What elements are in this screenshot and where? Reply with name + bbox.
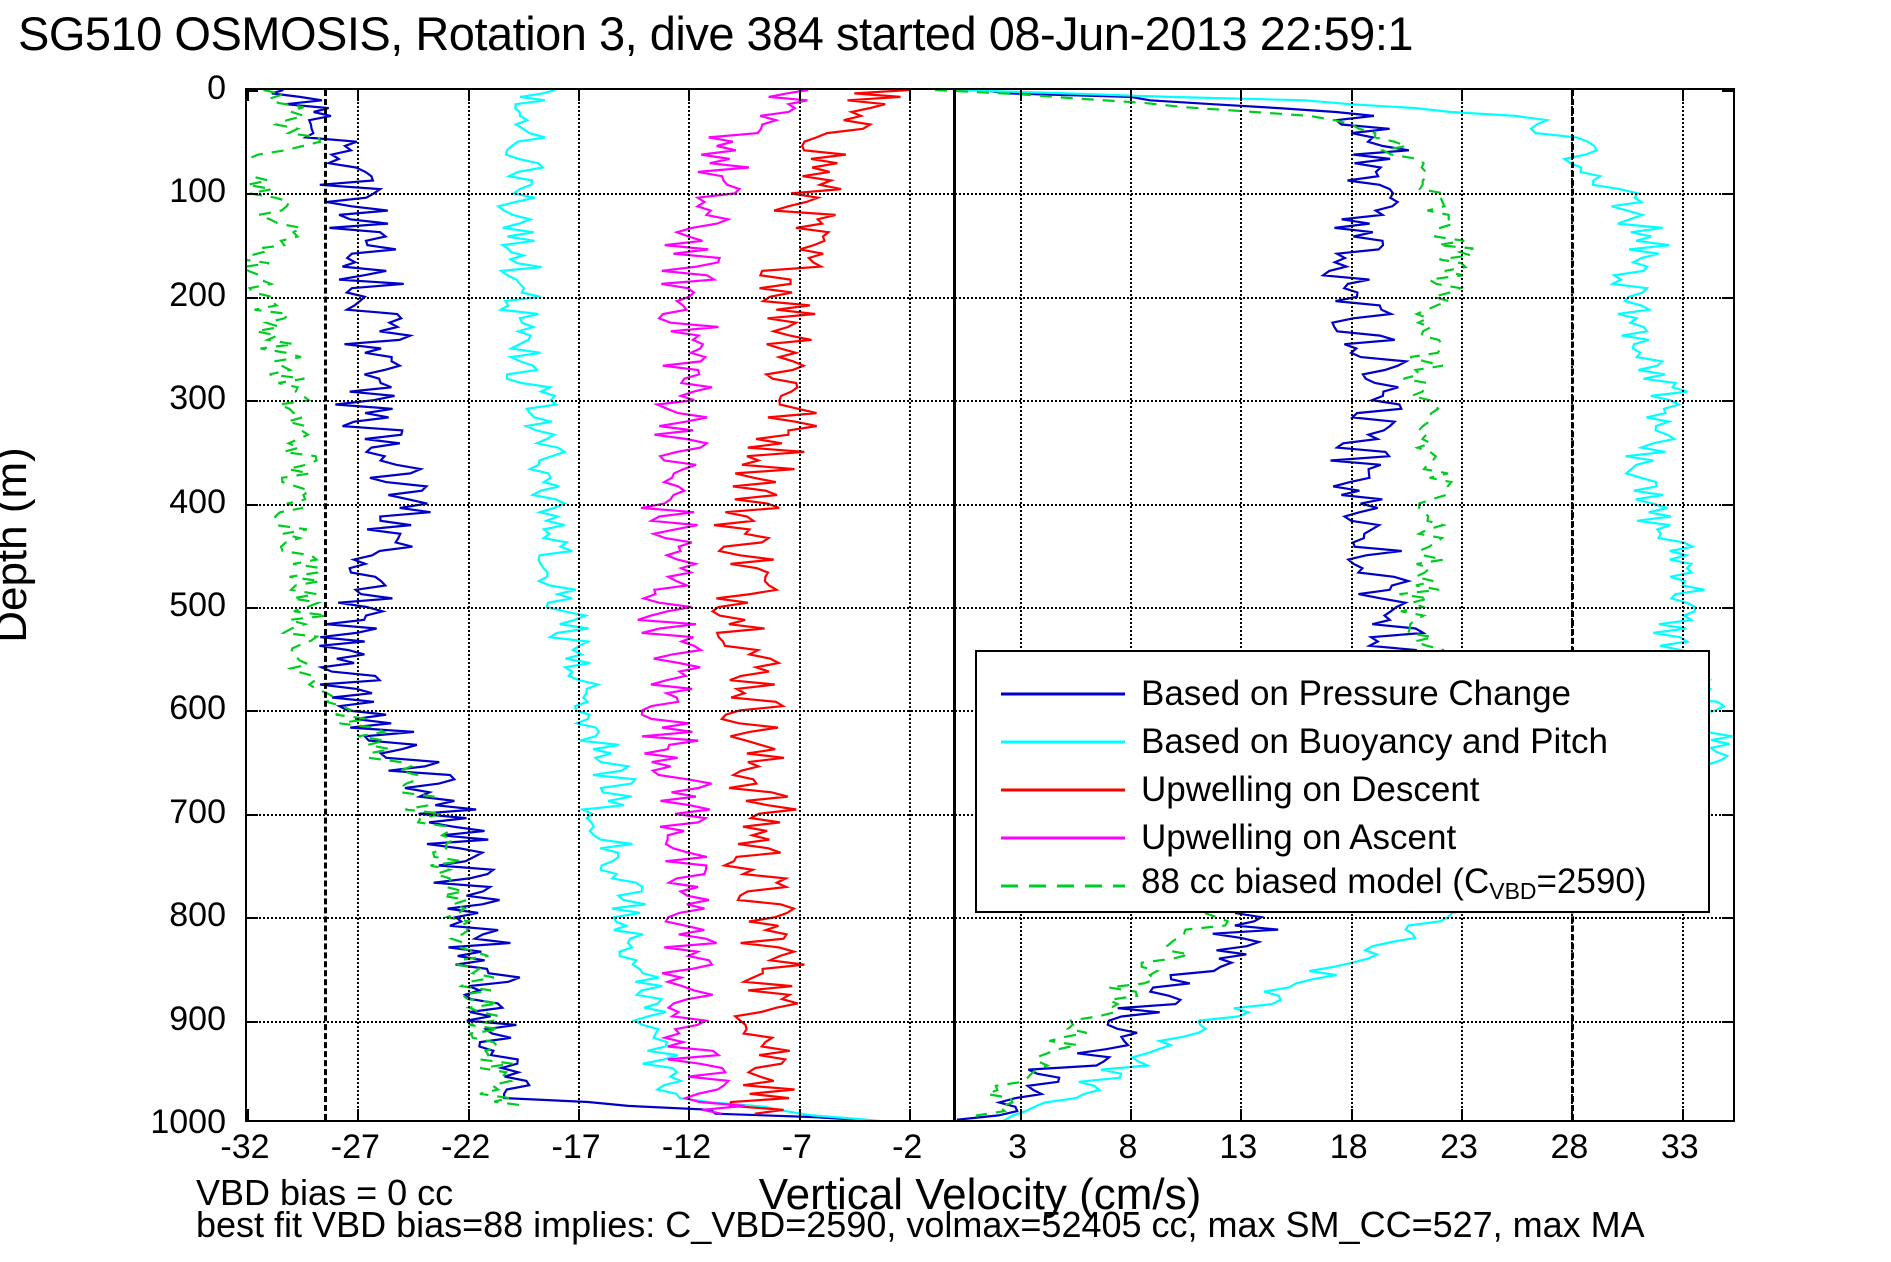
y-axis-tick	[1722, 607, 1733, 609]
y-axis-tick	[1722, 504, 1733, 506]
plot-clip	[247, 90, 1733, 1120]
x-tick-label: -2	[847, 1128, 967, 1166]
legend-label: Based on Pressure Change	[1141, 675, 1571, 713]
reference-line-dashed	[1571, 90, 1574, 1120]
x-axis-tick	[799, 90, 801, 101]
legend-item[interactable]: 88 cc biased model (CVBD=2590)	[977, 862, 1708, 910]
gridline-vertical	[799, 90, 801, 1120]
legend-box: Based on Pressure Change Based on Buoyan…	[975, 650, 1710, 913]
x-axis-tick	[1130, 1109, 1132, 1120]
x-axis-tick	[578, 90, 580, 101]
series-line-upwelling-on-ascent	[638, 90, 808, 1114]
gridline-vertical	[468, 90, 470, 1120]
x-axis-tick	[468, 1109, 470, 1120]
legend-swatch-descent	[999, 784, 1127, 796]
x-axis-tick	[1682, 1109, 1684, 1120]
x-axis-tick	[688, 1109, 690, 1120]
x-axis-tick	[1020, 1109, 1022, 1120]
reference-line-solid	[953, 90, 956, 1120]
data-series-canvas	[247, 90, 1733, 1120]
legend-item[interactable]: Based on Pressure Change	[977, 670, 1708, 718]
x-axis-tick	[468, 90, 470, 101]
series-line-upwelling-on-descent	[713, 90, 910, 1114]
y-axis-tick	[247, 297, 258, 299]
legend-label-model-subscript: VBD	[1489, 878, 1536, 904]
gridline-horizontal	[247, 917, 1733, 919]
y-tick-label: 1000	[0, 1103, 226, 1141]
y-axis-title: Depth (m)	[0, 265, 37, 825]
y-axis-tick	[1722, 90, 1733, 92]
y-axis-tick	[247, 710, 258, 712]
x-tick-label: -22	[406, 1128, 526, 1166]
plot-area	[245, 88, 1735, 1122]
x-tick-label: 3	[958, 1128, 1078, 1166]
gridline-vertical	[578, 90, 580, 1120]
gridline-horizontal	[247, 297, 1733, 299]
legend-swatch-pressure	[999, 688, 1127, 700]
x-axis-tick	[247, 1109, 249, 1120]
gridline-horizontal	[247, 504, 1733, 506]
x-axis-tick	[909, 90, 911, 101]
y-axis-tick	[247, 400, 258, 402]
x-axis-tick	[1461, 1109, 1463, 1120]
y-axis-tick	[247, 193, 258, 195]
y-tick-label: 0	[0, 69, 226, 107]
legend-label: Upwelling on Ascent	[1141, 819, 1456, 857]
x-tick-label: -7	[737, 1128, 857, 1166]
legend-item[interactable]: Upwelling on Descent	[977, 766, 1708, 814]
x-tick-label: -12	[626, 1128, 746, 1166]
y-axis-tick	[247, 814, 258, 816]
gridline-vertical	[1351, 90, 1353, 1120]
y-tick-label: 900	[0, 1000, 226, 1038]
gridline-horizontal	[247, 193, 1733, 195]
legend-swatch-model	[999, 880, 1127, 892]
footer-annotation: best fit VBD bias=88 implies: C_VBD=2590…	[196, 1204, 1645, 1246]
gridline-vertical	[1020, 90, 1022, 1120]
x-axis-tick	[1461, 90, 1463, 101]
x-axis-tick	[688, 90, 690, 101]
y-axis-tick	[247, 607, 258, 609]
gridline-horizontal	[247, 607, 1733, 609]
y-axis-tick	[1722, 400, 1733, 402]
legend-label-model: 88 cc biased model (CVBD=2590)	[1141, 863, 1647, 910]
series-line-based-on-pressure-change-ascent	[957, 90, 1442, 1120]
series-line-88-cc-biased-model-c-vbd-2590-ascent	[935, 90, 1473, 1120]
series-line-based-on-buoyancy-and-pitch-ascent	[959, 90, 1733, 1120]
y-axis-tick	[247, 504, 258, 506]
y-axis-tick	[1722, 814, 1733, 816]
gridline-horizontal	[247, 1021, 1733, 1023]
x-axis-tick	[1020, 90, 1022, 101]
gridline-vertical	[909, 90, 911, 1120]
gridline-vertical	[1130, 90, 1132, 1120]
x-axis-tick	[357, 90, 359, 101]
gridline-horizontal	[247, 400, 1733, 402]
y-axis-tick	[247, 90, 258, 92]
x-axis-tick	[1240, 1109, 1242, 1120]
x-axis-tick	[1130, 90, 1132, 101]
y-axis-tick	[1722, 193, 1733, 195]
x-tick-label: 13	[1178, 1128, 1298, 1166]
gridline-vertical	[1461, 90, 1463, 1120]
y-tick-label: 100	[0, 172, 226, 210]
y-axis-tick	[247, 917, 258, 919]
gridline-vertical	[1240, 90, 1242, 1120]
y-axis-tick	[1722, 917, 1733, 919]
chart-title: SG510 OSMOSIS, Rotation 3, dive 384 star…	[18, 6, 1891, 62]
x-tick-label: 33	[1620, 1128, 1740, 1166]
legend-label: Upwelling on Descent	[1141, 771, 1480, 809]
legend-label-model-part1: 88 cc biased model (C	[1141, 862, 1489, 901]
x-axis-tick	[1682, 90, 1684, 101]
legend-swatch-ascent	[999, 832, 1127, 844]
legend-label: Based on Buoyancy and Pitch	[1141, 723, 1608, 761]
x-tick-label: 23	[1399, 1128, 1519, 1166]
y-axis-tick	[247, 1021, 258, 1023]
legend-item[interactable]: Upwelling on Ascent	[977, 814, 1708, 862]
gridline-vertical	[357, 90, 359, 1120]
x-axis-tick	[1351, 1109, 1353, 1120]
legend-item[interactable]: Based on Buoyancy and Pitch	[977, 718, 1708, 766]
x-axis-tick	[799, 1109, 801, 1120]
x-tick-label: 18	[1289, 1128, 1409, 1166]
x-axis-tick	[1240, 90, 1242, 101]
gridline-vertical	[1682, 90, 1684, 1120]
y-axis-tick	[1722, 297, 1733, 299]
x-tick-label: -17	[516, 1128, 636, 1166]
x-tick-label: -27	[295, 1128, 415, 1166]
legend-label-model-part2: =2590)	[1537, 862, 1647, 901]
y-tick-label: 800	[0, 896, 226, 934]
y-axis-tick	[1722, 1021, 1733, 1023]
y-axis-tick	[1722, 710, 1733, 712]
x-tick-label: 8	[1068, 1128, 1188, 1166]
x-tick-label: 28	[1509, 1128, 1629, 1166]
x-axis-tick	[1351, 90, 1353, 101]
x-axis-tick	[909, 1109, 911, 1120]
legend-swatch-buoyancy	[999, 736, 1127, 748]
x-axis-tick	[357, 1109, 359, 1120]
x-axis-tick	[578, 1109, 580, 1120]
gridline-vertical	[688, 90, 690, 1120]
reference-line-dashed	[324, 90, 327, 1120]
